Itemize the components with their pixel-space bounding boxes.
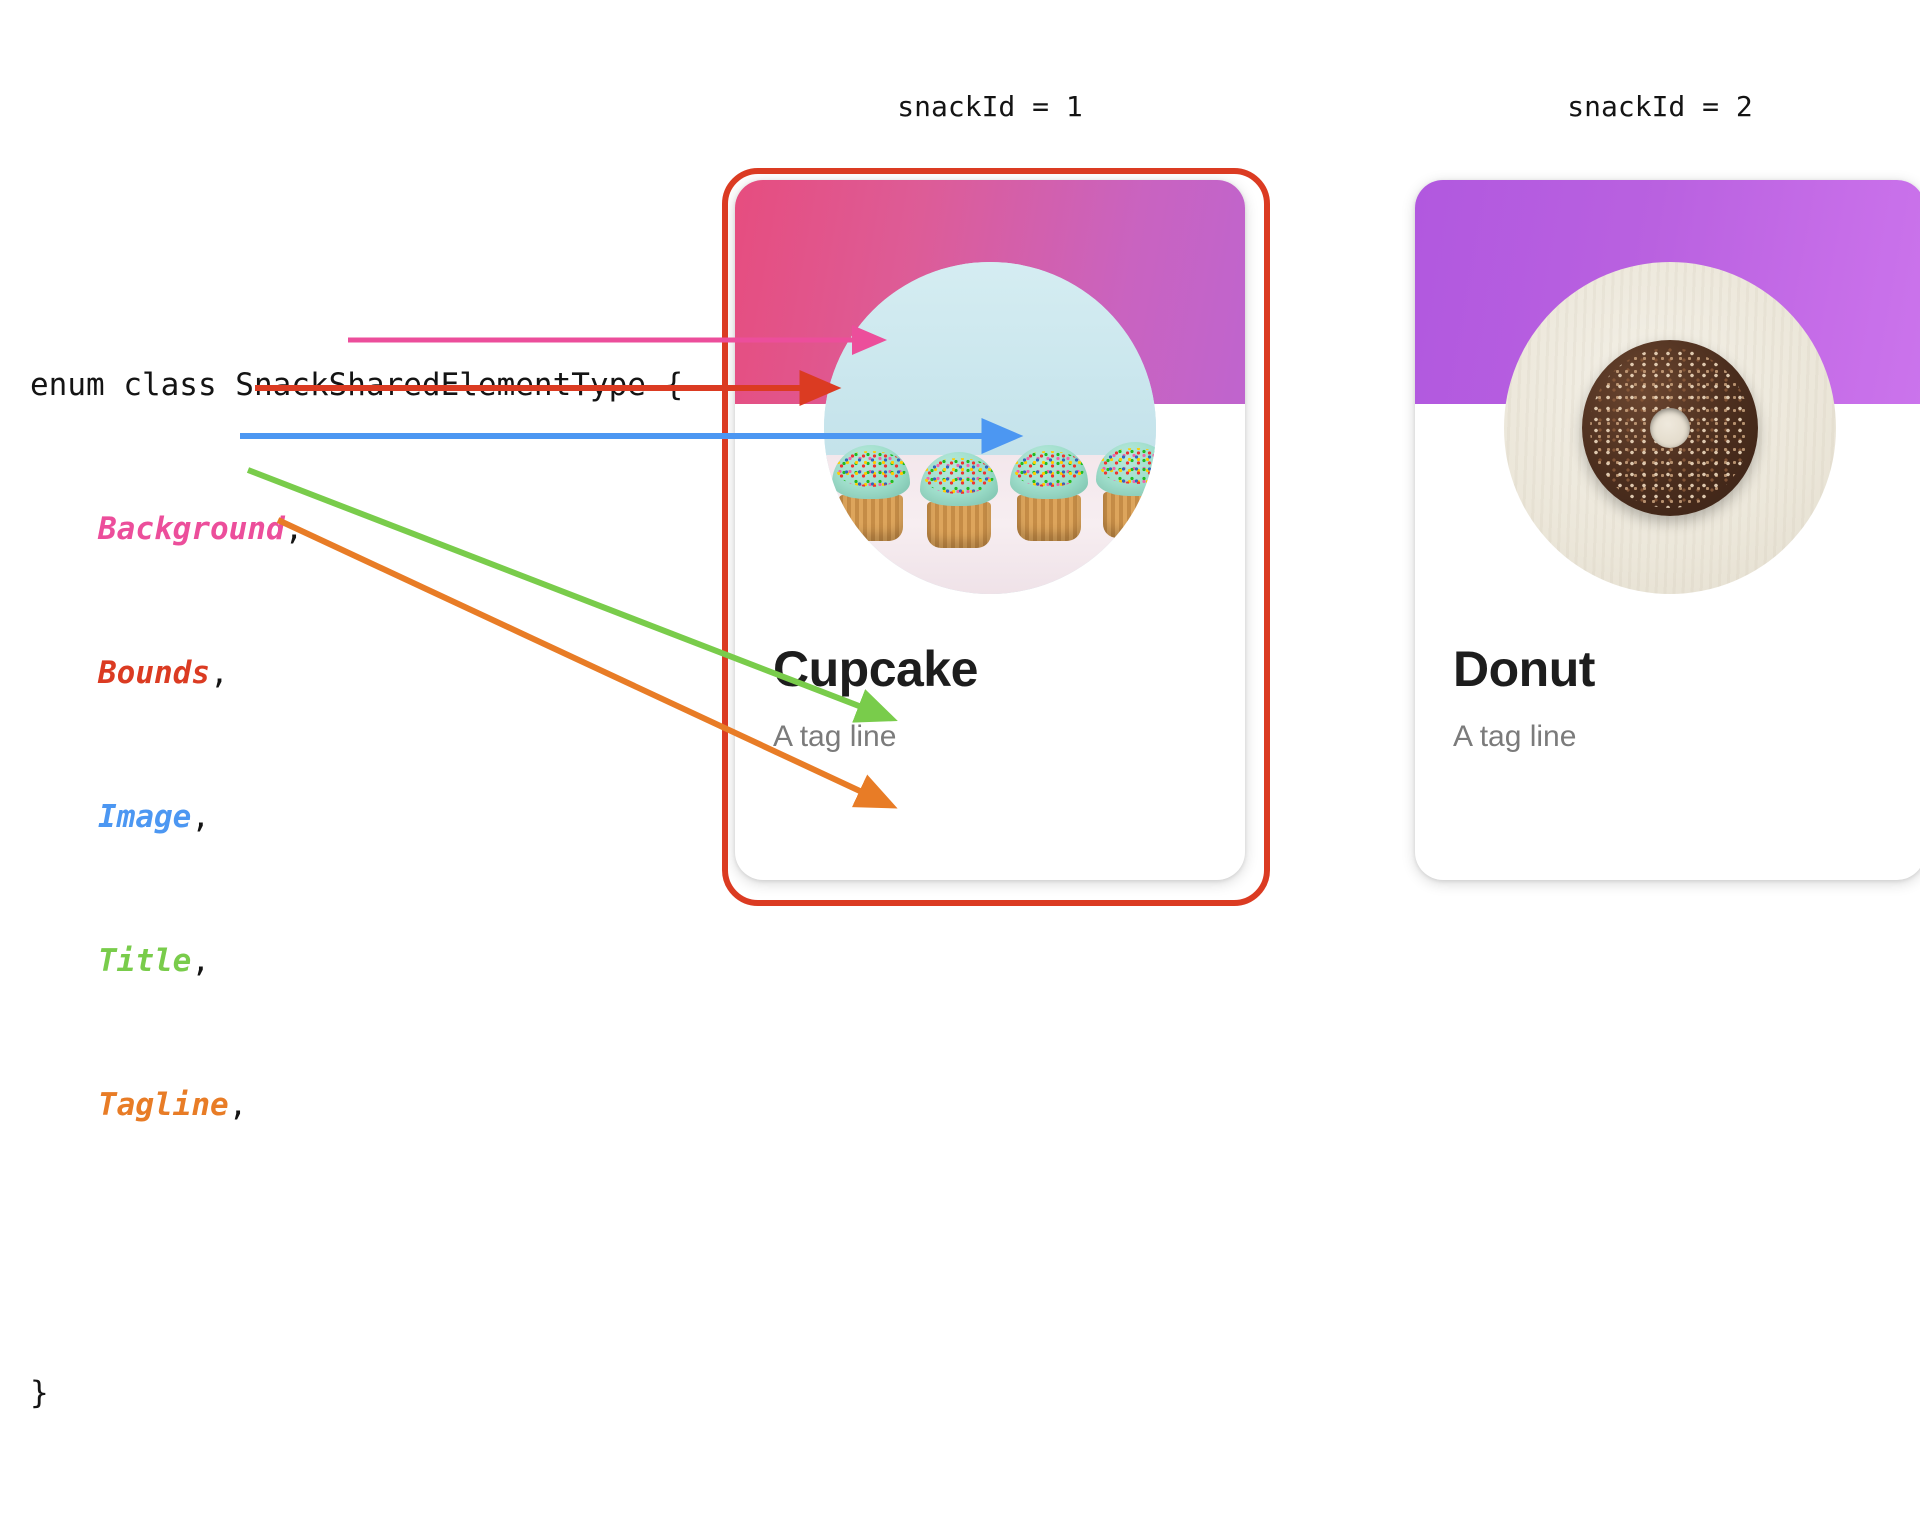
cupcake-2 (916, 452, 1002, 548)
cupcake-frosting (832, 445, 910, 499)
enum-member-background: Background (98, 511, 285, 547)
code-line-tagline: Tagline, (30, 1081, 683, 1129)
cupcake-frosting (1010, 445, 1088, 499)
cupcake-3 (1006, 445, 1092, 541)
code-line-header: enum class SnackSharedElementType { (30, 361, 683, 409)
snack-card-cupcake[interactable]: Cupcake A tag line (735, 180, 1245, 880)
diagram-canvas: enum class SnackSharedElementType { Back… (0, 0, 1920, 1080)
code-line-image: Image, (30, 793, 683, 841)
comma-3: , (191, 943, 210, 979)
card-title: Cupcake (773, 640, 978, 698)
donut-hole (1650, 408, 1690, 448)
donut-photo (1504, 262, 1836, 594)
code-line-bounds: Bounds, (30, 649, 683, 697)
code-line-background: Background, (30, 505, 683, 553)
cupcake-liner (927, 502, 991, 548)
cupcake-frosting (1096, 442, 1156, 496)
snack-card-donut[interactable]: Donut A tag line (1415, 180, 1920, 880)
comma-0: , (285, 511, 304, 547)
comma-1: , (210, 655, 229, 691)
cupcake-1 (828, 445, 914, 541)
cupcake-liner (1103, 492, 1156, 538)
enum-member-bounds: Bounds (98, 655, 210, 691)
donut-shape (1582, 340, 1758, 516)
code-line-blank (30, 1225, 683, 1273)
snack-id-label-2: snackId = 2 (1567, 90, 1752, 123)
photo-sky (824, 262, 1156, 461)
enum-member-title: Title (98, 943, 191, 979)
enum-member-tagline: Tagline (98, 1087, 229, 1123)
cupcake-frosting (920, 452, 998, 506)
cupcakes-photo (824, 262, 1156, 594)
code-line-closing: } (30, 1369, 683, 1417)
sprinkles (924, 458, 994, 494)
sprinkles (1100, 448, 1156, 484)
cupcake-4 (1092, 442, 1156, 538)
comma-4: , (229, 1087, 248, 1123)
cupcake-liner (839, 495, 903, 541)
sprinkles (836, 451, 906, 487)
code-line-title: Title, (30, 937, 683, 985)
code-block: enum class SnackSharedElementType { Back… (30, 265, 683, 1513)
comma-2: , (191, 799, 210, 835)
snack-id-label-1: snackId = 1 (897, 90, 1082, 123)
cupcake-liner (1017, 495, 1081, 541)
card-tagline: A tag line (773, 720, 896, 754)
card-title: Donut (1453, 640, 1595, 698)
card-tagline: A tag line (1453, 720, 1576, 754)
sprinkles (1014, 451, 1084, 487)
enum-member-image: Image (98, 799, 191, 835)
